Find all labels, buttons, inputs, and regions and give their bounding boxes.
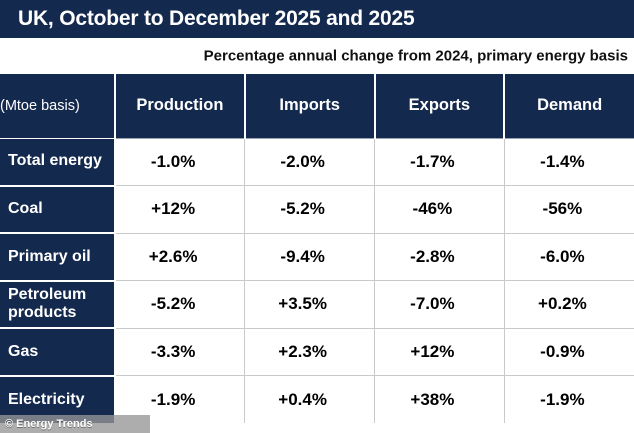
cell-electricity-exports: +38% <box>375 376 505 424</box>
cell-coal-production: +12% <box>115 186 245 234</box>
cell-gas-imports: +2.3% <box>245 328 375 376</box>
row-label-coal: Coal <box>0 186 115 234</box>
cell-total-energy-production: -1.0% <box>115 138 245 186</box>
table-body: Total energy -1.0% -2.0% -1.7% -1.4% Coa… <box>0 138 634 423</box>
cell-electricity-demand: -1.9% <box>504 376 634 424</box>
cell-petroleum-products-demand: +0.2% <box>504 281 634 329</box>
cell-primary-oil-exports: -2.8% <box>375 233 505 281</box>
column-header-demand: Demand <box>504 74 634 138</box>
cell-electricity-imports: +0.4% <box>245 376 375 424</box>
cell-gas-production: -3.3% <box>115 328 245 376</box>
table-row: Total energy -1.0% -2.0% -1.7% -1.4% <box>0 138 634 186</box>
cell-petroleum-products-imports: +3.5% <box>245 281 375 329</box>
title-bar: UK, October to December 2025 and 2025 <box>0 0 634 38</box>
cell-coal-demand: -56% <box>504 186 634 234</box>
source-credit-bar: © Energy Trends <box>0 415 150 433</box>
data-table-container: (Mtoe basis) Production Imports Exports … <box>0 74 634 433</box>
column-header-production: Production <box>115 74 245 138</box>
subtitle: Percentage annual change from 2024, prim… <box>204 48 628 65</box>
cell-total-energy-exports: -1.7% <box>375 138 505 186</box>
page-title: UK, October to December 2025 and 2025 <box>18 7 414 31</box>
table-row: Primary oil +2.6% -9.4% -2.8% -6.0% <box>0 233 634 281</box>
energy-statistics-infographic: UK, October to December 2025 and 2025 Pe… <box>0 0 634 433</box>
table-head: (Mtoe basis) Production Imports Exports … <box>0 74 634 138</box>
row-label-total-energy: Total energy <box>0 138 115 186</box>
column-header-exports: Exports <box>375 74 505 138</box>
subtitle-band: Percentage annual change from 2024, prim… <box>0 38 634 74</box>
cell-total-energy-demand: -1.4% <box>504 138 634 186</box>
column-header-imports: Imports <box>245 74 375 138</box>
cell-petroleum-products-exports: -7.0% <box>375 281 505 329</box>
row-label-gas: Gas <box>0 328 115 376</box>
table-header-row: (Mtoe basis) Production Imports Exports … <box>0 74 634 138</box>
cell-primary-oil-demand: -6.0% <box>504 233 634 281</box>
cell-petroleum-products-production: -5.2% <box>115 281 245 329</box>
cell-coal-imports: -5.2% <box>245 186 375 234</box>
table-row: Gas -3.3% +2.3% +12% -0.9% <box>0 328 634 376</box>
cell-total-energy-imports: -2.0% <box>245 138 375 186</box>
row-label-petroleum-products: Petroleum products <box>0 281 115 329</box>
unit-basis-label: (Mtoe basis) <box>0 74 115 138</box>
cell-gas-exports: +12% <box>375 328 505 376</box>
cell-primary-oil-production: +2.6% <box>115 233 245 281</box>
cell-coal-exports: -46% <box>375 186 505 234</box>
table-row: Petroleum products -5.2% +3.5% -7.0% +0.… <box>0 281 634 329</box>
source-credit-text: © Energy Trends <box>0 418 93 430</box>
cell-primary-oil-imports: -9.4% <box>245 233 375 281</box>
energy-change-table: (Mtoe basis) Production Imports Exports … <box>0 74 634 423</box>
row-label-primary-oil: Primary oil <box>0 233 115 281</box>
cell-gas-demand: -0.9% <box>504 328 634 376</box>
table-row: Coal +12% -5.2% -46% -56% <box>0 186 634 234</box>
